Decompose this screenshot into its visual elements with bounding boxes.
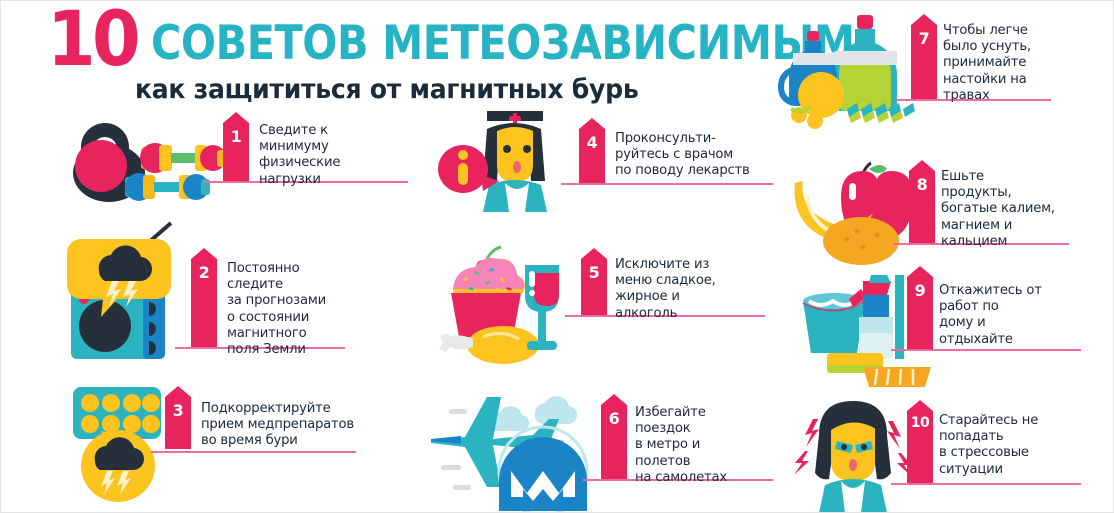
header-number: 10 <box>47 9 137 69</box>
tip-number-5: 5 <box>581 259 607 282</box>
cupcake-wine-chicken-icon <box>439 245 589 365</box>
tip-marker-8: 8 <box>909 171 935 243</box>
poster-header: 10 СОВЕТОВ МЕТЕОЗАВИСИМЫМ как защититься… <box>47 7 767 107</box>
tip-text-6: Избегайте поездок в метро и полетов на с… <box>635 405 785 486</box>
tip-marker-7: 7 <box>911 25 937 99</box>
tip-marker-10: 10 <box>907 411 933 483</box>
airplane-metro-icon <box>431 393 606 513</box>
header-title: СОВЕТОВ МЕТЕОЗАВИСИМЫМ <box>151 19 855 69</box>
tip-text-8: Ешьте продукты, богатые калием, магнием … <box>941 169 1101 250</box>
tip-text-9: Откажитесь от работ по дому и отдыхайте <box>939 283 1104 348</box>
tip-rule-3 <box>151 451 356 453</box>
tip-marker-6: 6 <box>601 405 627 479</box>
tip-5: 5 Исключите из меню сладкое, жирное и ал… <box>439 245 779 365</box>
tip-number-7: 7 <box>911 25 937 48</box>
tip-rule-9 <box>891 349 1081 351</box>
tip-2: 2 Постоянно следите за прогнозами о сост… <box>63 229 403 369</box>
tip-number-8: 8 <box>909 171 935 194</box>
tip-3: 3 Подкорректируйте прием медпрепаратов в… <box>63 381 413 506</box>
infographic-poster: 10 СОВЕТОВ МЕТЕОЗАВИСИМЫМ как защититься… <box>0 0 1114 513</box>
kettlebell-dumbbells-icon <box>63 111 233 206</box>
tip-8: 8 Ешьте продукты, богатые калием, магние… <box>791 153 1114 268</box>
tip-number-10: 10 <box>907 411 933 431</box>
tip-text-5: Исключите из меню сладкое, жирное и алко… <box>615 257 780 322</box>
tip-text-3: Подкорректируйте прием медпрепаратов во … <box>201 401 401 450</box>
tip-9: 9 Откажитесь от работ по дому и отдыхайт… <box>791 269 1114 389</box>
tip-number-6: 6 <box>601 405 627 428</box>
tip-number-3: 3 <box>165 397 191 420</box>
nurse-info-icon <box>439 107 589 212</box>
tip-marker-4: 4 <box>579 129 605 183</box>
tip-7: 7 Чтобы легче было уснуть, принимайте на… <box>791 9 1114 124</box>
tip-number-9: 9 <box>907 277 933 300</box>
tip-text-1: Сведите к минимуму физические нагрузки <box>259 123 409 188</box>
tip-text-10: Старайтесь не попадать в стрессовые ситу… <box>939 413 1104 478</box>
tip-rule-10 <box>891 483 1081 485</box>
tip-6: 6 Избегайте поездок в метро и полетов на… <box>431 393 781 513</box>
tip-marker-9: 9 <box>907 277 933 349</box>
tip-marker-2: 2 <box>191 259 217 347</box>
tip-number-4: 4 <box>579 129 605 152</box>
tip-number-1: 1 <box>223 123 249 146</box>
tip-text-4: Проконсульти- руйтесь с врачом по поводу… <box>615 131 785 180</box>
tip-text-7: Чтобы легче было уснуть, принимайте наст… <box>943 23 1073 104</box>
tip-4: 4 Проконсульти- руйтесь с врачом по пово… <box>439 107 779 207</box>
tip-text-2: Постоянно следите за прогнозами о состоя… <box>227 261 392 358</box>
tip-1: 1 Сведите к минимуму физические нагрузки <box>63 111 403 206</box>
tip-marker-1: 1 <box>223 123 249 181</box>
tip-marker-3: 3 <box>165 397 191 449</box>
header-line-primary: 10 СОВЕТОВ МЕТЕОЗАВИСИМЫМ <box>47 7 767 69</box>
header-subtitle: как защититься от магнитных бурь <box>135 75 723 105</box>
tip-10: 10 Старайтесь не попадать в стрессовые с… <box>791 393 1114 513</box>
tip-rule-4 <box>561 183 773 185</box>
tip-number-2: 2 <box>191 259 217 282</box>
tip-marker-5: 5 <box>581 259 607 315</box>
